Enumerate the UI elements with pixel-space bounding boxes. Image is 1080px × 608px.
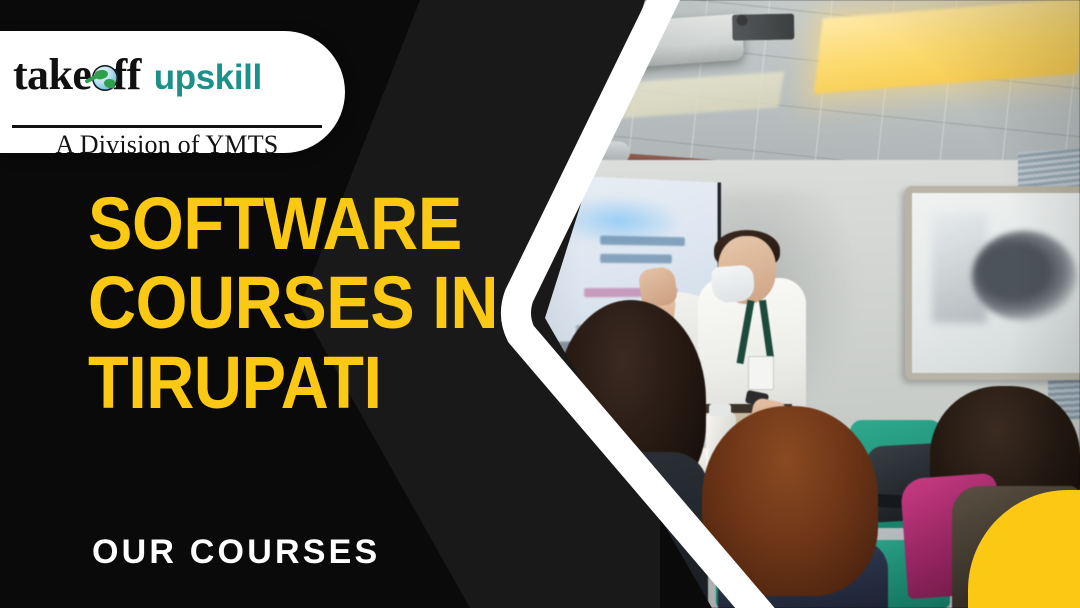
logo-wordmark-takeoff: takeoff	[13, 53, 141, 97]
water-bottle-cap	[709, 404, 731, 416]
whiteboard	[905, 186, 1080, 380]
headline-line-2: COURSES IN	[88, 265, 511, 340]
logo-divider-rule	[12, 125, 322, 128]
promo-banner: takeoff upskill A Division of YMTS SOFTW…	[0, 0, 1080, 608]
subheading: OUR COURSES	[92, 533, 380, 572]
logo-wordmark-upskill: upskill	[154, 60, 262, 95]
id-badge	[748, 356, 774, 390]
logo-tagline: A Division of YMTS	[12, 130, 322, 153]
headline-line-3: TIRUPATI	[88, 345, 511, 420]
face-mask	[711, 265, 755, 304]
page-title: SOFTWARE COURSES IN TIRUPATI	[88, 186, 558, 424]
audience-member	[702, 406, 878, 596]
brand-logo[interactable]: takeoff upskill A Division of YMTS	[0, 31, 345, 153]
headline-line-1: SOFTWARE	[88, 186, 511, 261]
